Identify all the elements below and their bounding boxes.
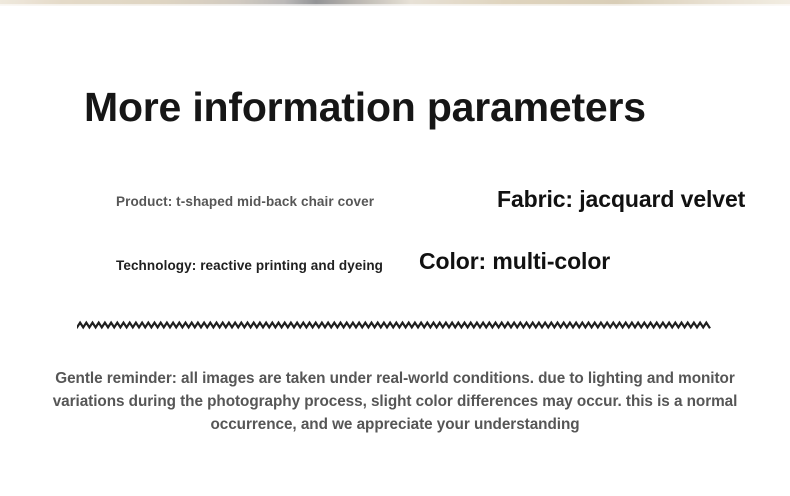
specification-list: Product: t-shaped mid-back chair cover F… [0, 186, 790, 314]
reminder-line: occurrence, and we appreciate your under… [0, 413, 790, 436]
reminder-line: variations during the photography proces… [0, 390, 790, 413]
zigzag-divider-icon [77, 318, 711, 332]
spec-row: Product: t-shaped mid-back chair cover F… [0, 186, 790, 250]
spec-row: Technology: reactive printing and dyeing… [0, 250, 790, 314]
product-detail-info-panel: More information parameters Product: t-s… [0, 0, 790, 496]
reminder-note: Gentle reminder: all images are taken un… [0, 367, 790, 436]
zigzag-divider [77, 318, 711, 332]
spec-technology: Technology: reactive printing and dyeing [116, 258, 383, 273]
reminder-line: Gentle reminder: all images are taken un… [0, 367, 790, 390]
page-title: More information parameters [84, 85, 646, 130]
cropped-photo-edge-strip [0, 0, 790, 6]
spec-product: Product: t-shaped mid-back chair cover [116, 194, 374, 209]
spec-color: Color: multi-color [419, 248, 610, 275]
spec-fabric: Fabric: jacquard velvet [497, 186, 745, 213]
